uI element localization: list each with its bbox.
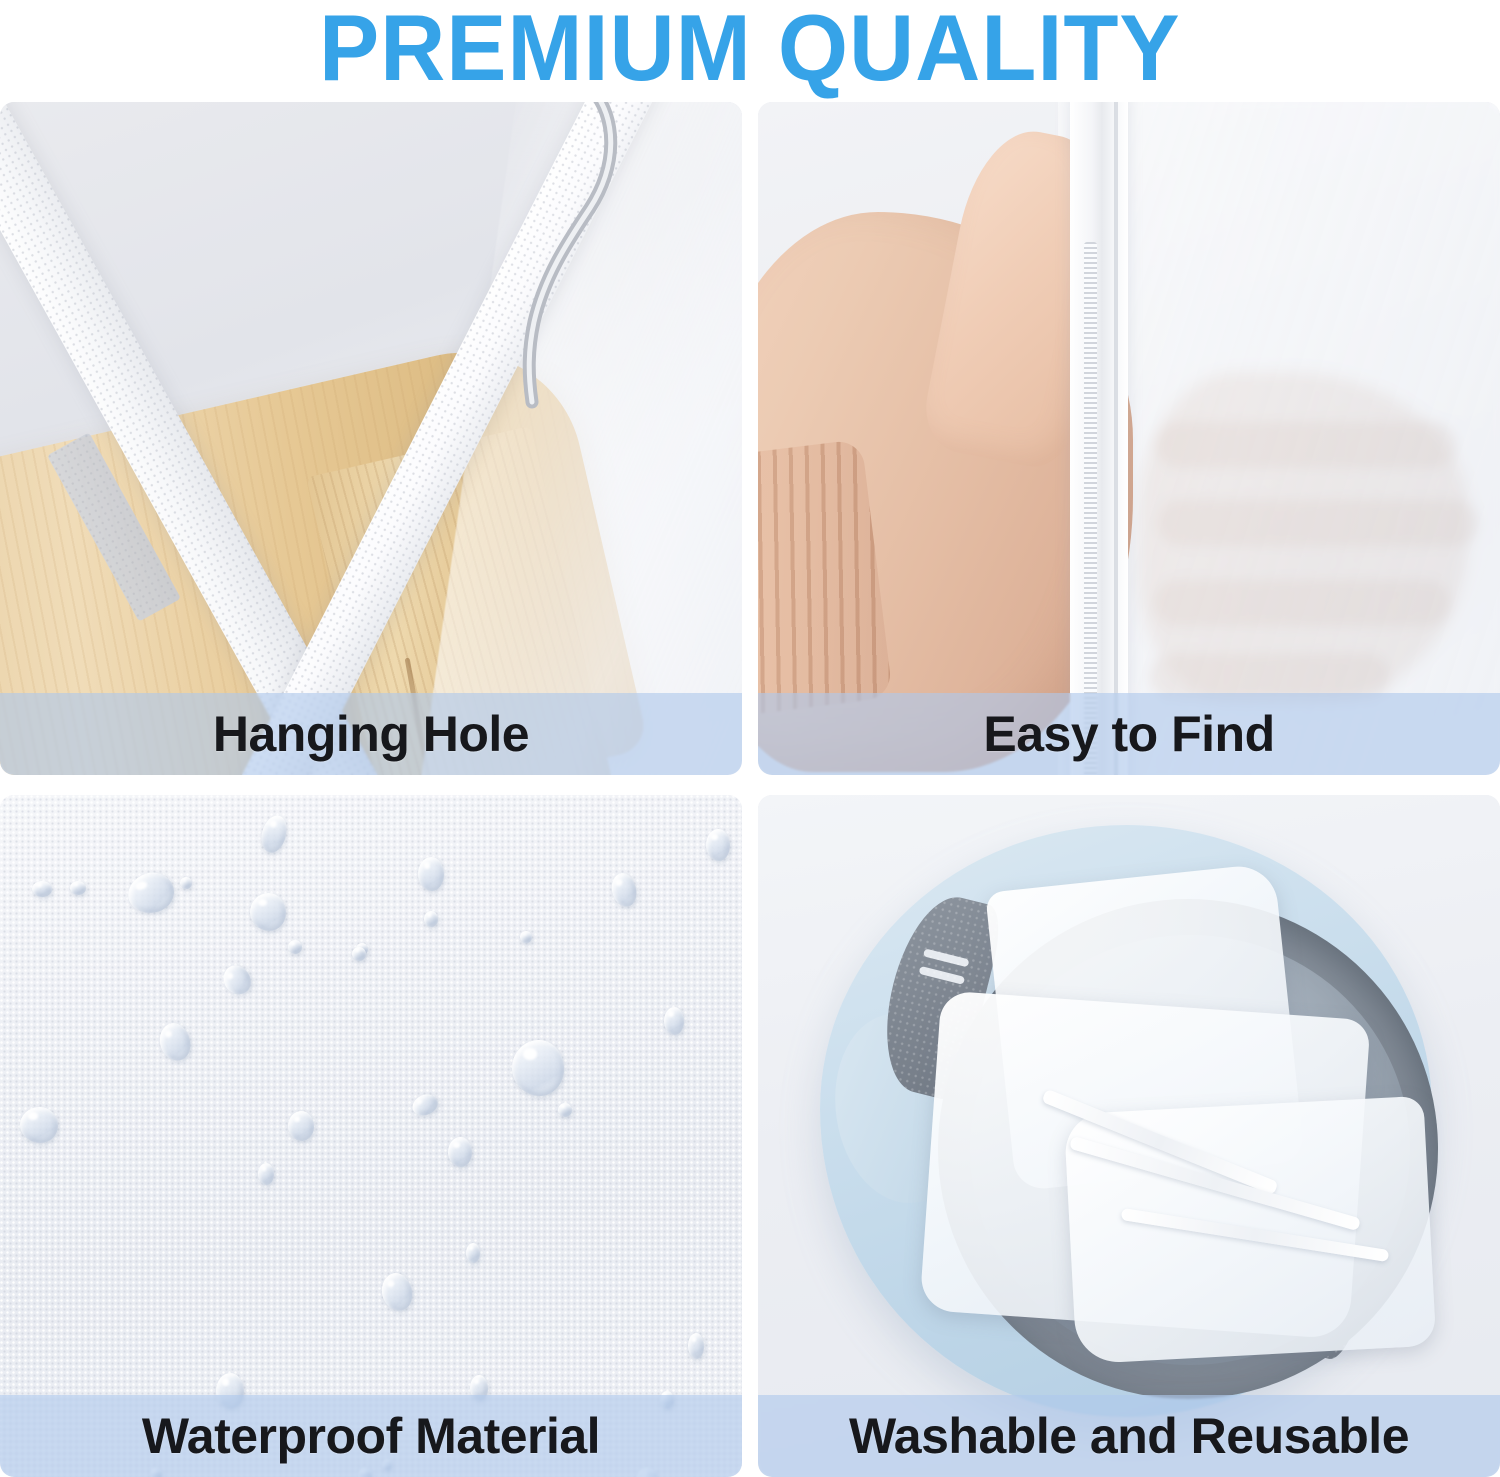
water-droplet [418,857,444,891]
caption-label: Waterproof Material [142,1410,600,1462]
water-droplet [466,1243,480,1263]
photo-waterproof-material [0,795,742,1477]
wash-basin [820,825,1432,1417]
photo-easy-to-find [758,102,1500,775]
caption-bar: Washable and Reusable [758,1395,1500,1477]
header: PREMIUM QUALITY [0,0,1500,96]
water-droplet [258,1163,274,1185]
feature-panel-easy-to-find: Easy to Find [758,102,1500,775]
photo-washable-and-reusable [758,795,1500,1477]
feature-grid: Hanging Hole Easy to Find [0,102,1500,1477]
feature-panel-waterproof-material: Waterproof Material [0,795,742,1477]
water-droplet [250,893,286,931]
caption-bar: Hanging Hole [0,693,742,775]
photo-hanging-hole [0,102,742,775]
premium-quality-infographic: PREMIUM QUALITY [0,0,1500,1477]
water-droplet [688,1333,704,1359]
water-droplet [288,940,302,954]
water-droplet [180,877,192,889]
caption-bar: Waterproof Material [0,1395,742,1477]
zipper-seam [1114,102,1118,775]
water-droplet [512,1040,564,1096]
water-droplet [664,1007,684,1035]
water-droplet [424,911,438,927]
water-droplet [520,931,532,943]
water-droplet [32,881,52,897]
metal-hanger-hook-icon [470,102,620,412]
page-title: PREMIUM QUALITY [319,1,1181,95]
caption-label: Easy to Find [983,708,1274,760]
caption-label: Hanging Hole [213,708,529,760]
water-droplet [558,1103,572,1117]
caption-bar: Easy to Find [758,693,1500,775]
water-droplet [706,829,730,861]
feature-panel-hanging-hole: Hanging Hole [0,102,742,775]
feature-panel-washable-and-reusable: Washable and Reusable [758,795,1500,1477]
zipper-tape [1070,102,1128,775]
caption-label: Washable and Reusable [849,1410,1409,1462]
water-droplet [352,947,366,961]
water-droplet [288,1111,314,1141]
water-droplet [20,1107,58,1143]
water-droplet [448,1137,472,1167]
water-droplet [70,881,86,895]
